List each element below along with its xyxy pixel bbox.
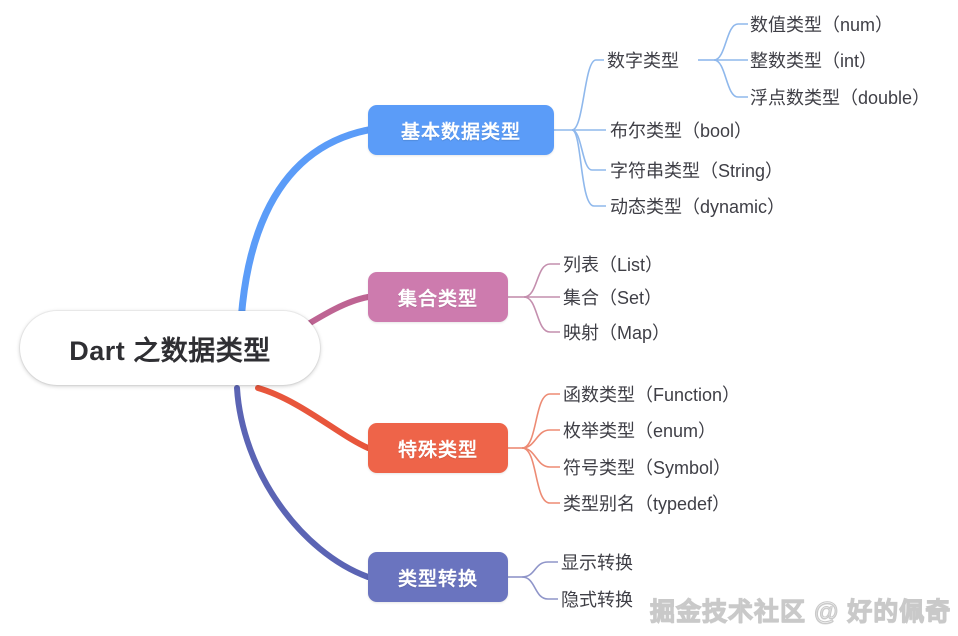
- trunk-to-special: [258, 388, 368, 448]
- leaf-int[interactable]: 整数类型（int）: [750, 52, 877, 70]
- leaf-implicit-cast[interactable]: 隐式转换: [561, 591, 633, 609]
- fan-cast-to-explicit: [522, 562, 558, 577]
- fan-special-to-typedef: [522, 448, 560, 503]
- branch-node-collection-types[interactable]: 集合类型: [368, 272, 508, 322]
- branch-node-special-types[interactable]: 特殊类型: [368, 423, 508, 473]
- branch-node-basic-types[interactable]: 基本数据类型: [368, 105, 554, 155]
- watermark-text: 掘金技术社区 @ 好的佩奇: [650, 592, 951, 628]
- branch-node-label: 类型转换: [398, 564, 478, 591]
- fan-collection-to-map: [524, 297, 560, 332]
- branch-node-label: 特殊类型: [398, 435, 478, 462]
- root-node-label: Dart 之数据类型: [69, 329, 271, 368]
- fan-special-to-symbol: [522, 448, 560, 467]
- fan-collection-to-list: [524, 264, 560, 297]
- leaf-symbol[interactable]: 符号类型（Symbol）: [563, 459, 731, 477]
- fan-basic-to-string: [572, 130, 606, 170]
- leaf-function[interactable]: 函数类型（Function）: [563, 386, 740, 404]
- leaf-set[interactable]: 集合（Set）: [563, 289, 662, 307]
- fan-basic-to-dynamic: [572, 130, 606, 206]
- leaf-double[interactable]: 浮点数类型（double）: [750, 89, 930, 107]
- fan-cast-to-implicit: [522, 577, 558, 599]
- fan-special-to-enum: [522, 430, 560, 448]
- leaf-number-type[interactable]: 数字类型: [607, 52, 679, 70]
- branch-node-label: 集合类型: [398, 284, 478, 311]
- fan-basic-to-number: [572, 60, 604, 130]
- fan-number-to-double: [714, 60, 748, 97]
- leaf-explicit-cast[interactable]: 显示转换: [561, 554, 633, 572]
- branch-node-label: 基本数据类型: [401, 117, 521, 144]
- leaf-num[interactable]: 数值类型（num）: [750, 16, 893, 34]
- leaf-map[interactable]: 映射（Map）: [563, 324, 670, 342]
- leaf-string[interactable]: 字符串类型（String）: [610, 162, 783, 180]
- branch-node-type-cast[interactable]: 类型转换: [368, 552, 508, 602]
- leaf-bool[interactable]: 布尔类型（bool）: [610, 122, 752, 140]
- leaf-enum[interactable]: 枚举类型（enum）: [563, 422, 716, 440]
- fan-number-to-num: [714, 24, 748, 60]
- mindmap-canvas: Dart 之数据类型 基本数据类型 集合类型 特殊类型 类型转换 数字类型 数值…: [0, 0, 958, 636]
- root-node[interactable]: Dart 之数据类型: [20, 311, 320, 385]
- leaf-dynamic[interactable]: 动态类型（dynamic）: [610, 198, 785, 216]
- trunk-to-cast: [237, 388, 368, 577]
- fan-special-to-function: [522, 394, 560, 448]
- leaf-list[interactable]: 列表（List）: [563, 256, 663, 274]
- leaf-typedef[interactable]: 类型别名（typedef）: [563, 495, 730, 513]
